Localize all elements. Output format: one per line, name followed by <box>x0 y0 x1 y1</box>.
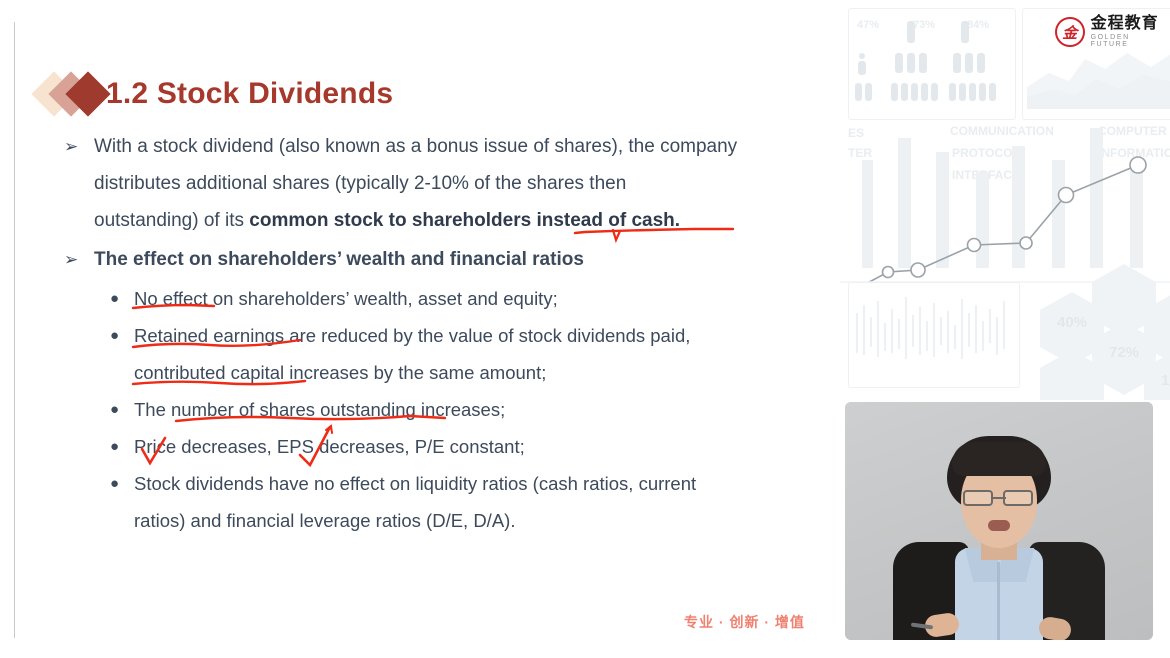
bullet-level2-text: Stock dividends have no effect on liquid… <box>134 465 794 539</box>
person-pictogram <box>931 83 938 101</box>
slide-canvas: 1.2 Stock Dividends ➢ With a stock divid… <box>0 0 1170 658</box>
slide-body: ➢ With a stock dividend (also known as a… <box>38 128 818 539</box>
stat-label: 84% <box>967 19 989 31</box>
bullet-line: distributes additional shares (typically… <box>94 173 626 194</box>
diamond-decor-icon <box>38 68 110 120</box>
brand-logo: 金 金程教育 GOLDEN FUTURE <box>1055 16 1170 48</box>
bullet-level1: ➢ With a stock dividend (also known as a… <box>38 128 818 239</box>
bullet-level2: ● Stock dividends have no effect on liqu… <box>38 465 818 539</box>
dot-bullet-icon: ● <box>38 391 134 428</box>
person-pictogram <box>865 83 872 101</box>
person-pictogram <box>855 83 862 101</box>
bullet-level2: ● No effect on shareholders’ wealth, ass… <box>38 280 818 317</box>
bullet-level2-text: The number of shares outstanding increas… <box>134 391 794 428</box>
person-pictogram <box>891 83 898 101</box>
person-pictogram <box>961 21 969 43</box>
hex-tile: 15% <box>1144 368 1170 400</box>
hex-stat: 72% <box>1092 344 1156 361</box>
glasses-left-lens-icon <box>963 490 993 506</box>
logo-name-cn: 金程教育 <box>1091 16 1170 32</box>
arrow-bullet-icon: ➢ <box>38 241 94 278</box>
stat-label: 73% <box>913 19 935 31</box>
glasses-bridge-icon <box>992 497 1006 499</box>
candlestick-panel <box>848 282 1020 388</box>
bullet-level2: ● Price decreases, EPS decreases, P/E co… <box>38 428 818 465</box>
person-pictogram <box>949 83 956 101</box>
bullet-line: With a stock dividend (also known as a b… <box>94 136 737 157</box>
dot-bullet-icon: ● <box>38 280 134 317</box>
person-pictogram <box>907 21 915 43</box>
bullet-level1-text: With a stock dividend (also known as a b… <box>94 128 806 239</box>
bullet-level2: ● The number of shares outstanding incre… <box>38 391 818 428</box>
slide-title-row: 1.2 Stock Dividends <box>38 68 393 120</box>
person-pictogram <box>977 53 985 73</box>
page-title: 1.2 Stock Dividends <box>106 77 393 111</box>
person-pictogram <box>859 53 865 59</box>
hex-tile <box>1040 368 1104 400</box>
bullet-line: Retained earnings are reduced by the val… <box>134 325 690 346</box>
person-pictogram <box>858 61 866 75</box>
person-pictogram <box>919 53 927 73</box>
dot-bullet-icon: ● <box>38 317 134 354</box>
person-pictogram <box>953 53 961 73</box>
person-pictogram <box>979 83 986 101</box>
bullet-line: ratios) and financial leverage ratios (D… <box>134 510 515 531</box>
seal-icon: 金 <box>1055 17 1085 47</box>
candlestick-svg <box>849 283 1019 387</box>
person-pictogram <box>921 83 928 101</box>
person-pictogram <box>959 83 966 101</box>
footer-slogan: 专业 · 创新 · 增值 <box>684 612 805 632</box>
bullet-level2-text: No effect on shareholders’ wealth, asset… <box>134 280 794 317</box>
person-pictogram <box>901 83 908 101</box>
stat-label: 47% <box>857 19 879 31</box>
people-infographic-panel: 47% 73% 84% <box>848 8 1016 120</box>
bullet-emphasis: common stock to shareholders instead of … <box>249 210 680 231</box>
person-pictogram <box>989 83 996 101</box>
bullet-level1: ➢ The effect on shareholders’ wealth and… <box>38 241 818 278</box>
shirt-placket <box>997 562 1000 640</box>
hex-stat: 40% <box>1040 314 1104 331</box>
hex-tile <box>1144 310 1170 347</box>
person-pictogram <box>965 53 973 73</box>
logo-name-en: GOLDEN FUTURE <box>1091 34 1170 48</box>
mouth <box>988 520 1010 531</box>
arrow-bullet-icon: ➢ <box>38 128 94 165</box>
dot-bullet-icon: ● <box>38 428 134 465</box>
bullet-line: contributed capital increases by the sam… <box>134 362 546 383</box>
left-margin-rule <box>14 22 15 638</box>
dot-bullet-icon: ● <box>38 465 134 502</box>
hair-fringe <box>952 442 1046 476</box>
person-pictogram <box>969 83 976 101</box>
decorative-graphics: 47% 73% 84% <box>840 0 1170 400</box>
person-pictogram <box>911 83 918 101</box>
person-pictogram <box>895 53 903 73</box>
bullet-level2-text: Price decreases, EPS decreases, P/E cons… <box>134 428 794 465</box>
person-pictogram <box>907 53 915 73</box>
bullet-level2: ● Retained earnings are reduced by the v… <box>38 317 818 391</box>
bullet-line: outstanding) of its <box>94 210 249 231</box>
glasses-right-lens-icon <box>1003 490 1033 506</box>
bullet-level1-text: The effect on shareholders’ wealth and f… <box>94 241 806 278</box>
bullet-line: Stock dividends have no effect on liquid… <box>134 473 696 494</box>
bullet-level2-text: Retained earnings are reduced by the val… <box>134 317 794 391</box>
hex-stat: 15% <box>1144 372 1170 389</box>
instructor-video-panel[interactable] <box>845 402 1153 640</box>
logo-text: 金程教育 GOLDEN FUTURE <box>1091 16 1170 48</box>
